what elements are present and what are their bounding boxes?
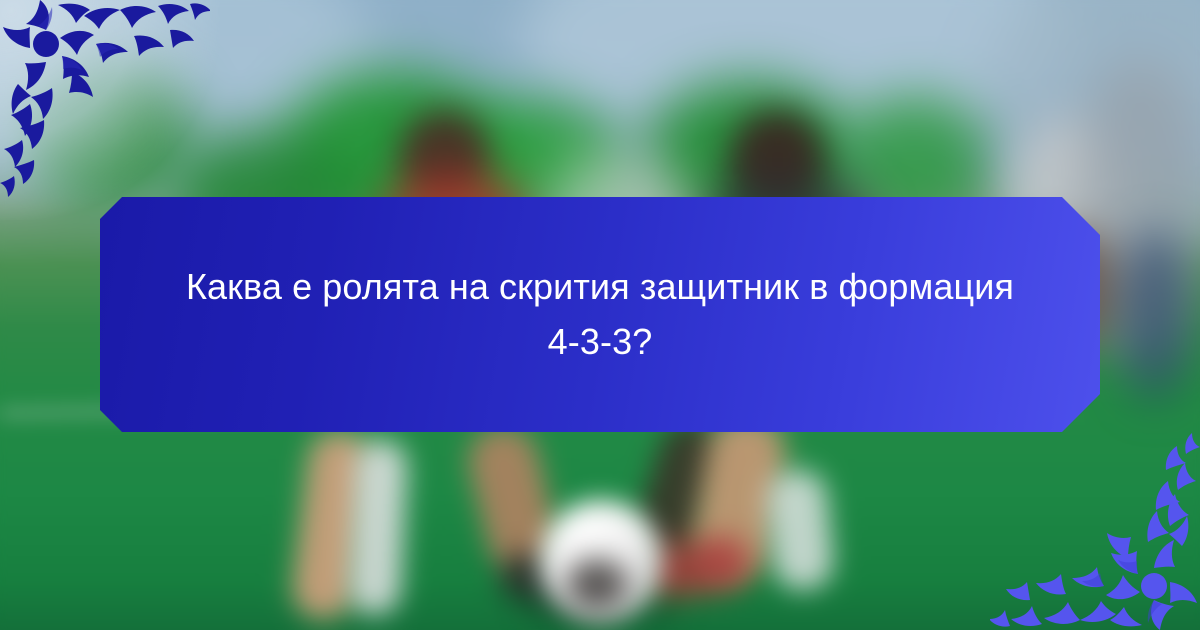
social-card: Каква е ролята на скрития защитник в фор… — [0, 0, 1200, 630]
headline-banner: Каква е ролята на скрития защитник в фор… — [100, 197, 1100, 432]
headline-text: Каква е ролята на скрития защитник в фор… — [110, 260, 1090, 369]
